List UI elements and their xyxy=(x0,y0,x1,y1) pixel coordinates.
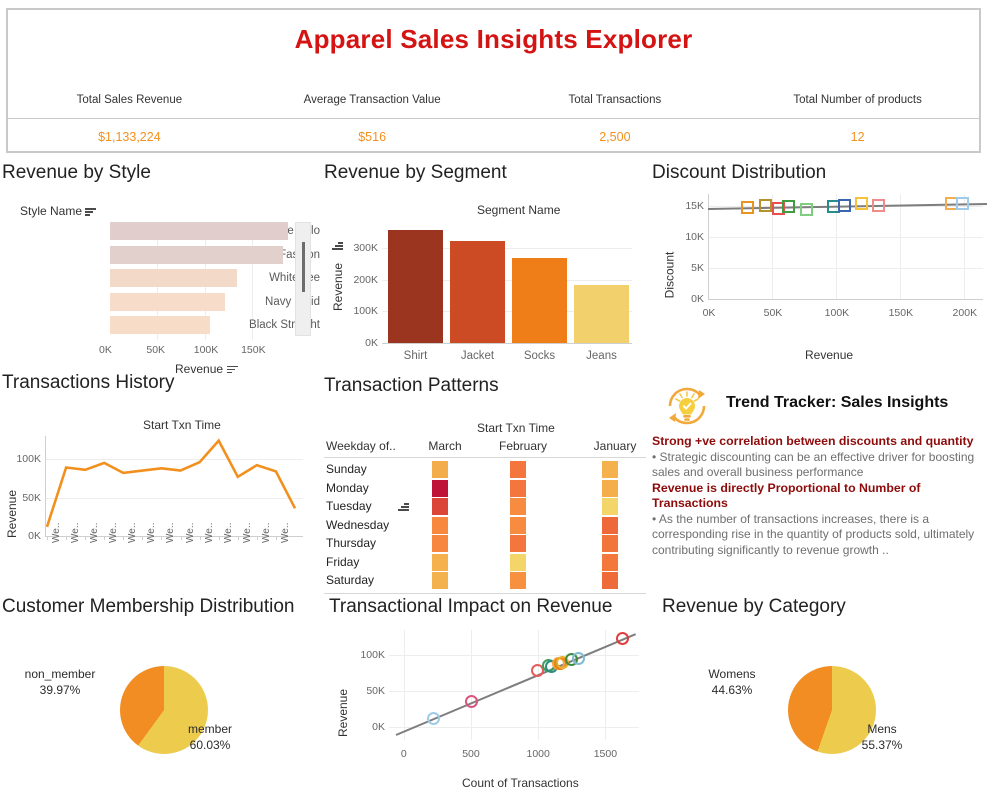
patterns-cell[interactable] xyxy=(602,517,618,534)
trend-tracker-title: Trend Tracker: Sales Insights xyxy=(726,394,948,412)
style-xtick: 0K xyxy=(99,344,112,356)
segment-bar[interactable] xyxy=(512,258,567,343)
discount-point[interactable] xyxy=(855,197,868,210)
sort-icon[interactable] xyxy=(85,207,96,216)
discount-vgridline xyxy=(964,194,965,299)
patterns-cell[interactable] xyxy=(602,498,618,515)
patterns-cell[interactable] xyxy=(510,554,526,571)
kpi-label-average-transaction-value: Average Transaction Value xyxy=(304,94,441,106)
patterns-column-header: February xyxy=(488,439,558,453)
discount-x-axis-label: Revenue xyxy=(805,348,853,362)
style-xtick: 150K xyxy=(241,344,266,356)
patterns-cell[interactable] xyxy=(602,554,618,571)
discount-distribution-title: Discount Distribution xyxy=(652,162,826,184)
discount-point[interactable] xyxy=(782,200,795,213)
discount-xtick: 100K xyxy=(822,307,852,319)
trend-heading-2: Revenue is directly Proportional to Numb… xyxy=(652,481,984,512)
patterns-table-area: Weekday of..MarchFebruaryJanuarySundayMo… xyxy=(322,439,648,589)
slice-name: member xyxy=(188,722,232,736)
segment-category-label: Jacket xyxy=(450,350,505,362)
customer-membership-panel: Customer Membership Distribution non_mem… xyxy=(0,596,330,802)
history-xtick-label: We.. xyxy=(223,523,234,543)
discount-x-axis xyxy=(708,299,983,300)
history-tick xyxy=(181,536,182,540)
history-xtick-label: We.. xyxy=(185,523,196,543)
history-xtick-label: We.. xyxy=(146,523,157,543)
style-bar[interactable] xyxy=(110,316,210,334)
transaction-patterns-title: Transaction Patterns xyxy=(324,375,499,397)
style-bar[interactable] xyxy=(110,269,237,287)
discount-ytick: 10K xyxy=(672,231,704,243)
segment-ytick: 200K xyxy=(344,274,378,286)
kpi-label-row: Total Sales Revenue Average Transaction … xyxy=(8,90,979,119)
transactional-impact-panel: Transactional Impact on Revenue Revenue … xyxy=(327,596,665,802)
history-xtick-label: We.. xyxy=(280,523,291,543)
patterns-cell[interactable] xyxy=(432,461,448,478)
discount-gridline xyxy=(708,237,983,238)
discount-point[interactable] xyxy=(838,199,851,212)
discount-ytick: 5K xyxy=(672,262,704,274)
patterns-cell[interactable] xyxy=(432,572,448,589)
kpi-header-panel: Apparel Sales Insights Explorer Total Sa… xyxy=(6,8,981,153)
kpi-label-total-transactions: Total Transactions xyxy=(569,94,662,106)
patterns-cell[interactable] xyxy=(602,480,618,497)
trend-bullet-2: • As the number of transactions increase… xyxy=(652,512,984,559)
customer-membership-title: Customer Membership Distribution xyxy=(2,596,295,618)
slice-name: Mens xyxy=(867,722,896,736)
revenue-by-style-panel: Revenue by Style Style Name 0K50K100K150… xyxy=(0,160,320,375)
cat-plot-slice-label-2: Mens55.37% xyxy=(822,721,942,753)
style-xtick: 100K xyxy=(194,344,219,356)
impact-xtick: 1500 xyxy=(587,748,623,760)
impact-xtick: 1000 xyxy=(520,748,556,760)
history-tick xyxy=(238,536,239,540)
transactions-history-title: Transactions History xyxy=(2,372,174,394)
kpi-value-cell: $1,133,224 xyxy=(8,119,251,153)
discount-xtick: 150K xyxy=(886,307,916,319)
patterns-cell[interactable] xyxy=(432,535,448,552)
impact-vgridline xyxy=(471,630,472,740)
segment-category-label: Shirt xyxy=(388,350,443,362)
segment-category-label: Jeans xyxy=(574,350,629,362)
history-tick xyxy=(85,536,86,540)
discount-ytick: 0K xyxy=(672,293,704,305)
kpi-label-cell: Average Transaction Value xyxy=(251,90,494,118)
kpi-value-average-transaction-value: $516 xyxy=(251,119,494,144)
trend-bullet-1: • Strategic discounting can be an effect… xyxy=(652,450,984,481)
history-xtick-label: We.. xyxy=(51,523,62,543)
revenue-by-segment-title: Revenue by Segment xyxy=(324,162,507,184)
dashboard-title: Apparel Sales Insights Explorer xyxy=(8,24,979,55)
kpi-label-cell: Total Sales Revenue xyxy=(8,90,251,118)
impact-point[interactable] xyxy=(465,695,478,708)
history-xtick-label: We.. xyxy=(127,523,138,543)
segment-bar[interactable] xyxy=(574,285,629,343)
kpi-label-total-number-of-products: Total Number of products xyxy=(793,94,921,106)
transaction-patterns-panel: Transaction Patterns Start Txn Time Week… xyxy=(322,375,648,600)
kpi-value-cell: 2,500 xyxy=(494,119,737,153)
patterns-column-header: March xyxy=(410,439,480,453)
revenue-by-category-title: Revenue by Category xyxy=(662,596,846,618)
impact-point[interactable] xyxy=(427,712,440,725)
history-tick xyxy=(219,536,220,540)
style-plot-area: 0K50K100K150KBlue PoloGrey FashionWhite … xyxy=(0,220,320,375)
style-name-axis-label: Style Name xyxy=(20,204,96,218)
impact-gridline xyxy=(389,691,639,692)
patterns-row-header-label: Weekday of.. xyxy=(326,439,396,453)
history-xtick-label: We.. xyxy=(70,523,81,543)
segment-plot-area: 0K100K200K300KShirtJacketSocksJeans xyxy=(322,215,648,375)
trend-heading-1: Strong +ve correlation between discounts… xyxy=(652,434,984,450)
discount-vgridline xyxy=(900,194,901,299)
kpi-label-cell: Total Number of products xyxy=(736,90,979,118)
impact-point[interactable] xyxy=(572,652,585,665)
style-xtick: 50K xyxy=(146,344,165,356)
kpi-value-cell: 12 xyxy=(736,119,979,153)
style-bar[interactable] xyxy=(110,222,288,240)
patterns-cell[interactable] xyxy=(602,535,618,552)
history-ytick: 50K xyxy=(7,492,41,504)
kpi-value-total-number-of-products: 12 xyxy=(736,119,979,144)
history-xtick-label: We.. xyxy=(108,523,119,543)
history-tick xyxy=(161,536,162,540)
mem-plot-slice-label-1: non_member39.97% xyxy=(0,666,120,698)
impact-x-axis-label: Count of Transactions xyxy=(462,776,579,790)
impact-xtick: 0 xyxy=(386,748,422,760)
patterns-cell[interactable] xyxy=(510,461,526,478)
slice-percent: 44.63% xyxy=(712,683,753,697)
kpi-value-total-transactions: 2,500 xyxy=(494,119,737,144)
impact-point[interactable] xyxy=(616,632,629,645)
impact-gridline xyxy=(389,727,639,728)
category-pie-area: Womens44.63%Mens55.37% xyxy=(660,626,987,802)
revenue-by-segment-panel: Revenue by Segment Segment Name Revenue … xyxy=(322,160,648,375)
kpi-label-total-sales-revenue: Total Sales Revenue xyxy=(77,94,182,106)
patterns-cell[interactable] xyxy=(432,517,448,534)
history-tick xyxy=(200,536,201,540)
history-tick xyxy=(257,536,258,540)
discount-point[interactable] xyxy=(956,197,969,210)
impact-plot-area: 0K50K100K050010001500 xyxy=(327,624,665,774)
transactions-history-panel: Transactions History Start Txn Time Reve… xyxy=(0,372,320,600)
segment-ytick: 0K xyxy=(344,337,378,349)
patterns-cell[interactable] xyxy=(602,572,618,589)
patterns-column-header: January xyxy=(580,439,650,453)
patterns-column-group-label: Start Txn Time xyxy=(477,421,555,435)
impact-ytick: 100K xyxy=(351,649,385,661)
membership-pie-area: non_member39.97%member60.03% xyxy=(0,626,330,802)
slice-name: Womens xyxy=(708,667,755,681)
kpi-value-row: $1,133,224 $516 2,500 12 xyxy=(8,119,979,153)
patterns-cell[interactable] xyxy=(510,535,526,552)
discount-point[interactable] xyxy=(741,201,754,214)
impact-vgridline xyxy=(404,630,405,740)
revenue-by-style-title: Revenue by Style xyxy=(2,162,151,184)
impact-gridline xyxy=(389,655,639,656)
transactional-impact-title: Transactional Impact on Revenue xyxy=(329,596,612,618)
history-tick xyxy=(276,536,277,540)
patterns-row-label: Saturday xyxy=(326,573,374,587)
mem-plot-slice-label-2: member60.03% xyxy=(150,721,270,753)
history-xtick-label: We.. xyxy=(261,523,272,543)
discount-xtick: 50K xyxy=(758,307,788,319)
impact-vgridline xyxy=(538,630,539,740)
segment-bar[interactable] xyxy=(450,241,505,343)
slice-percent: 60.03% xyxy=(190,738,231,752)
trend-tracker-panel: Trend Tracker: Sales Insights Strong +ve… xyxy=(650,378,987,600)
history-tick xyxy=(142,536,143,540)
style-name-text: Style Name xyxy=(20,204,82,218)
patterns-cell[interactable] xyxy=(510,572,526,589)
kpi-value-cell: $516 xyxy=(251,119,494,153)
patterns-row-label: Friday xyxy=(326,555,359,569)
history-line xyxy=(45,436,313,550)
history-ytick: 0K xyxy=(7,530,41,542)
segment-ytick: 100K xyxy=(344,305,378,317)
dashboard-root: Apparel Sales Insights Explorer Total Sa… xyxy=(0,0,987,802)
impact-ytick: 0K xyxy=(351,721,385,733)
history-tick xyxy=(47,536,48,540)
segment-category-label: Socks xyxy=(512,350,567,362)
discount-point[interactable] xyxy=(759,199,772,212)
discount-plot-area: 0K5K10K15K0K50K100K150K200K xyxy=(650,188,987,348)
patterns-row-label: Wednesday xyxy=(326,518,389,532)
patterns-cell[interactable] xyxy=(602,461,618,478)
discount-point[interactable] xyxy=(872,199,885,212)
patterns-cell[interactable] xyxy=(510,480,526,497)
history-plot-area: 0K50K100KWe..We..We..We..We..We..We..We.… xyxy=(0,430,320,600)
style-scrollbar-thumb[interactable] xyxy=(302,242,305,292)
history-ytick: 100K xyxy=(7,453,41,465)
history-xtick-label: We.. xyxy=(165,523,176,543)
sort-icon[interactable] xyxy=(398,503,409,512)
patterns-cell[interactable] xyxy=(510,498,526,515)
patterns-cell[interactable] xyxy=(510,517,526,534)
history-tick xyxy=(104,536,105,540)
cat-plot-slice-label-1: Womens44.63% xyxy=(672,666,792,698)
history-tick xyxy=(123,536,124,540)
discount-distribution-panel: Discount Distribution Discount Revenue 0… xyxy=(650,160,987,375)
style-bar[interactable] xyxy=(110,246,283,264)
impact-xtick: 500 xyxy=(453,748,489,760)
patterns-cell[interactable] xyxy=(432,480,448,497)
patterns-header-rule xyxy=(324,457,646,458)
patterns-row-label: Tuesday xyxy=(326,499,372,513)
patterns-row-label: Monday xyxy=(326,481,369,495)
lightbulb-refresh-icon xyxy=(660,382,714,430)
discount-xtick: 200K xyxy=(950,307,980,319)
patterns-row-label: Sunday xyxy=(326,462,367,476)
slice-percent: 39.97% xyxy=(40,683,81,697)
kpi-value-total-sales-revenue: $1,133,224 xyxy=(8,119,251,144)
discount-xtick: 0K xyxy=(694,307,724,319)
history-xtick-label: We.. xyxy=(242,523,253,543)
patterns-cell[interactable] xyxy=(432,498,448,515)
slice-percent: 55.37% xyxy=(862,738,903,752)
segment-bar[interactable] xyxy=(388,230,443,343)
style-bar[interactable] xyxy=(110,293,225,311)
patterns-cell[interactable] xyxy=(432,554,448,571)
kpi-label-cell: Total Transactions xyxy=(494,90,737,118)
trend-tracker-body: Strong +ve correlation between discounts… xyxy=(652,434,984,558)
segment-axis-line xyxy=(382,343,632,344)
discount-ytick: 15K xyxy=(672,200,704,212)
history-xtick-label: We.. xyxy=(204,523,215,543)
discount-point[interactable] xyxy=(800,203,813,216)
revenue-by-category-panel: Revenue by Category Womens44.63%Mens55.3… xyxy=(660,596,987,802)
history-xtick-label: We.. xyxy=(89,523,100,543)
discount-gridline xyxy=(708,268,983,269)
patterns-row-label: Thursday xyxy=(326,536,376,550)
impact-ytick: 50K xyxy=(351,685,385,697)
history-tick xyxy=(66,536,67,540)
slice-name: non_member xyxy=(25,667,96,681)
segment-ytick: 300K xyxy=(344,242,378,254)
patterns-footer-rule xyxy=(324,593,646,594)
